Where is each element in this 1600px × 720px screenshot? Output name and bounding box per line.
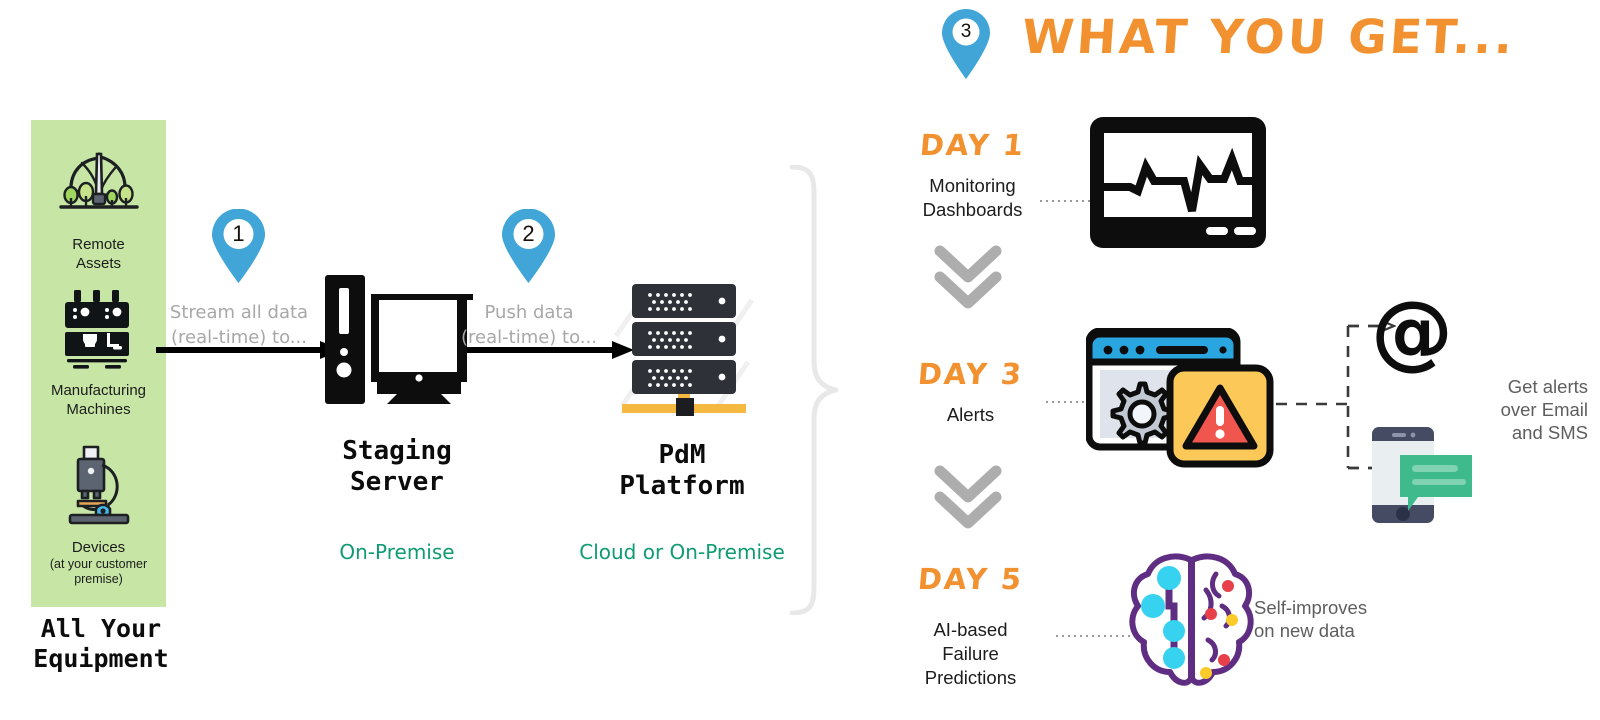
step-2-caption: Push data (real-time) to... bbox=[455, 300, 603, 350]
day-5-label: DAY 5 bbox=[897, 562, 1045, 596]
section-pin-3-number: 3 bbox=[940, 21, 992, 43]
equipment-item-remote-assets: Remote Assets bbox=[31, 138, 166, 273]
page-title: WHAT YOU GET... bbox=[1020, 8, 1518, 68]
equipment-item-manufacturing-machines: Manufacturing Machines bbox=[31, 288, 166, 419]
email-at-icon: @ bbox=[1371, 295, 1453, 382]
day-3-description: Alerts bbox=[893, 403, 1048, 427]
equipment-item-sublabel: (at your customer premise) bbox=[31, 557, 166, 587]
grouping-brace bbox=[778, 165, 864, 615]
staging-server-icon bbox=[325, 268, 473, 417]
pdm-platform-icon bbox=[608, 276, 758, 427]
equipment-title: All Your Equipment bbox=[6, 614, 196, 674]
pdm-platform-subtitle: Cloud or On-Premise bbox=[552, 540, 812, 564]
step-pin-1-number: 1 bbox=[210, 221, 267, 247]
brain-ai-icon bbox=[1124, 548, 1259, 698]
step-pin-2-number: 2 bbox=[500, 221, 557, 247]
staging-server-subtitle: On-Premise bbox=[277, 540, 517, 564]
alert-channels-note: Get alerts over Email and SMS bbox=[1428, 375, 1588, 444]
equipment-item-label: Remote Assets bbox=[31, 235, 166, 273]
pdm-platform-title: PdM Platform bbox=[562, 440, 802, 502]
equipment-item-label: Devices bbox=[31, 538, 166, 557]
step-1-caption: Stream all data (real-time) to... bbox=[165, 300, 313, 350]
equipment-item-label: Manufacturing Machines bbox=[31, 381, 166, 419]
espresso-machine-icon bbox=[31, 288, 166, 375]
browser-warning-icon bbox=[1086, 328, 1276, 473]
day-3-label: DAY 3 bbox=[897, 357, 1045, 391]
step-pin-1: 1 bbox=[210, 209, 267, 284]
monitor-waveform-icon bbox=[1088, 115, 1268, 255]
svg-text:@: @ bbox=[1371, 295, 1453, 377]
day-1-description: Monitoring Dashboards bbox=[895, 174, 1050, 222]
staging-server-title: Staging Server bbox=[277, 436, 517, 498]
diagram-canvas: Remote Assets bbox=[0, 0, 1600, 720]
section-pin-3: 3 bbox=[940, 8, 992, 80]
day-1-label: DAY 1 bbox=[899, 128, 1047, 162]
equipment-item-devices: Devices (at your customer premise) bbox=[31, 443, 166, 587]
step-pin-2: 2 bbox=[500, 209, 557, 284]
day-5-connector bbox=[1056, 633, 1132, 639]
wind-turbine-icon bbox=[31, 138, 166, 229]
flow-chevron-down-icon bbox=[928, 243, 1008, 311]
flow-chevron-down-icon bbox=[928, 463, 1008, 531]
day-5-description: AI-based Failure Predictions bbox=[893, 618, 1048, 690]
ai-improvement-note: Self-improves on new data bbox=[1254, 596, 1444, 642]
microscope-icon bbox=[31, 443, 166, 532]
